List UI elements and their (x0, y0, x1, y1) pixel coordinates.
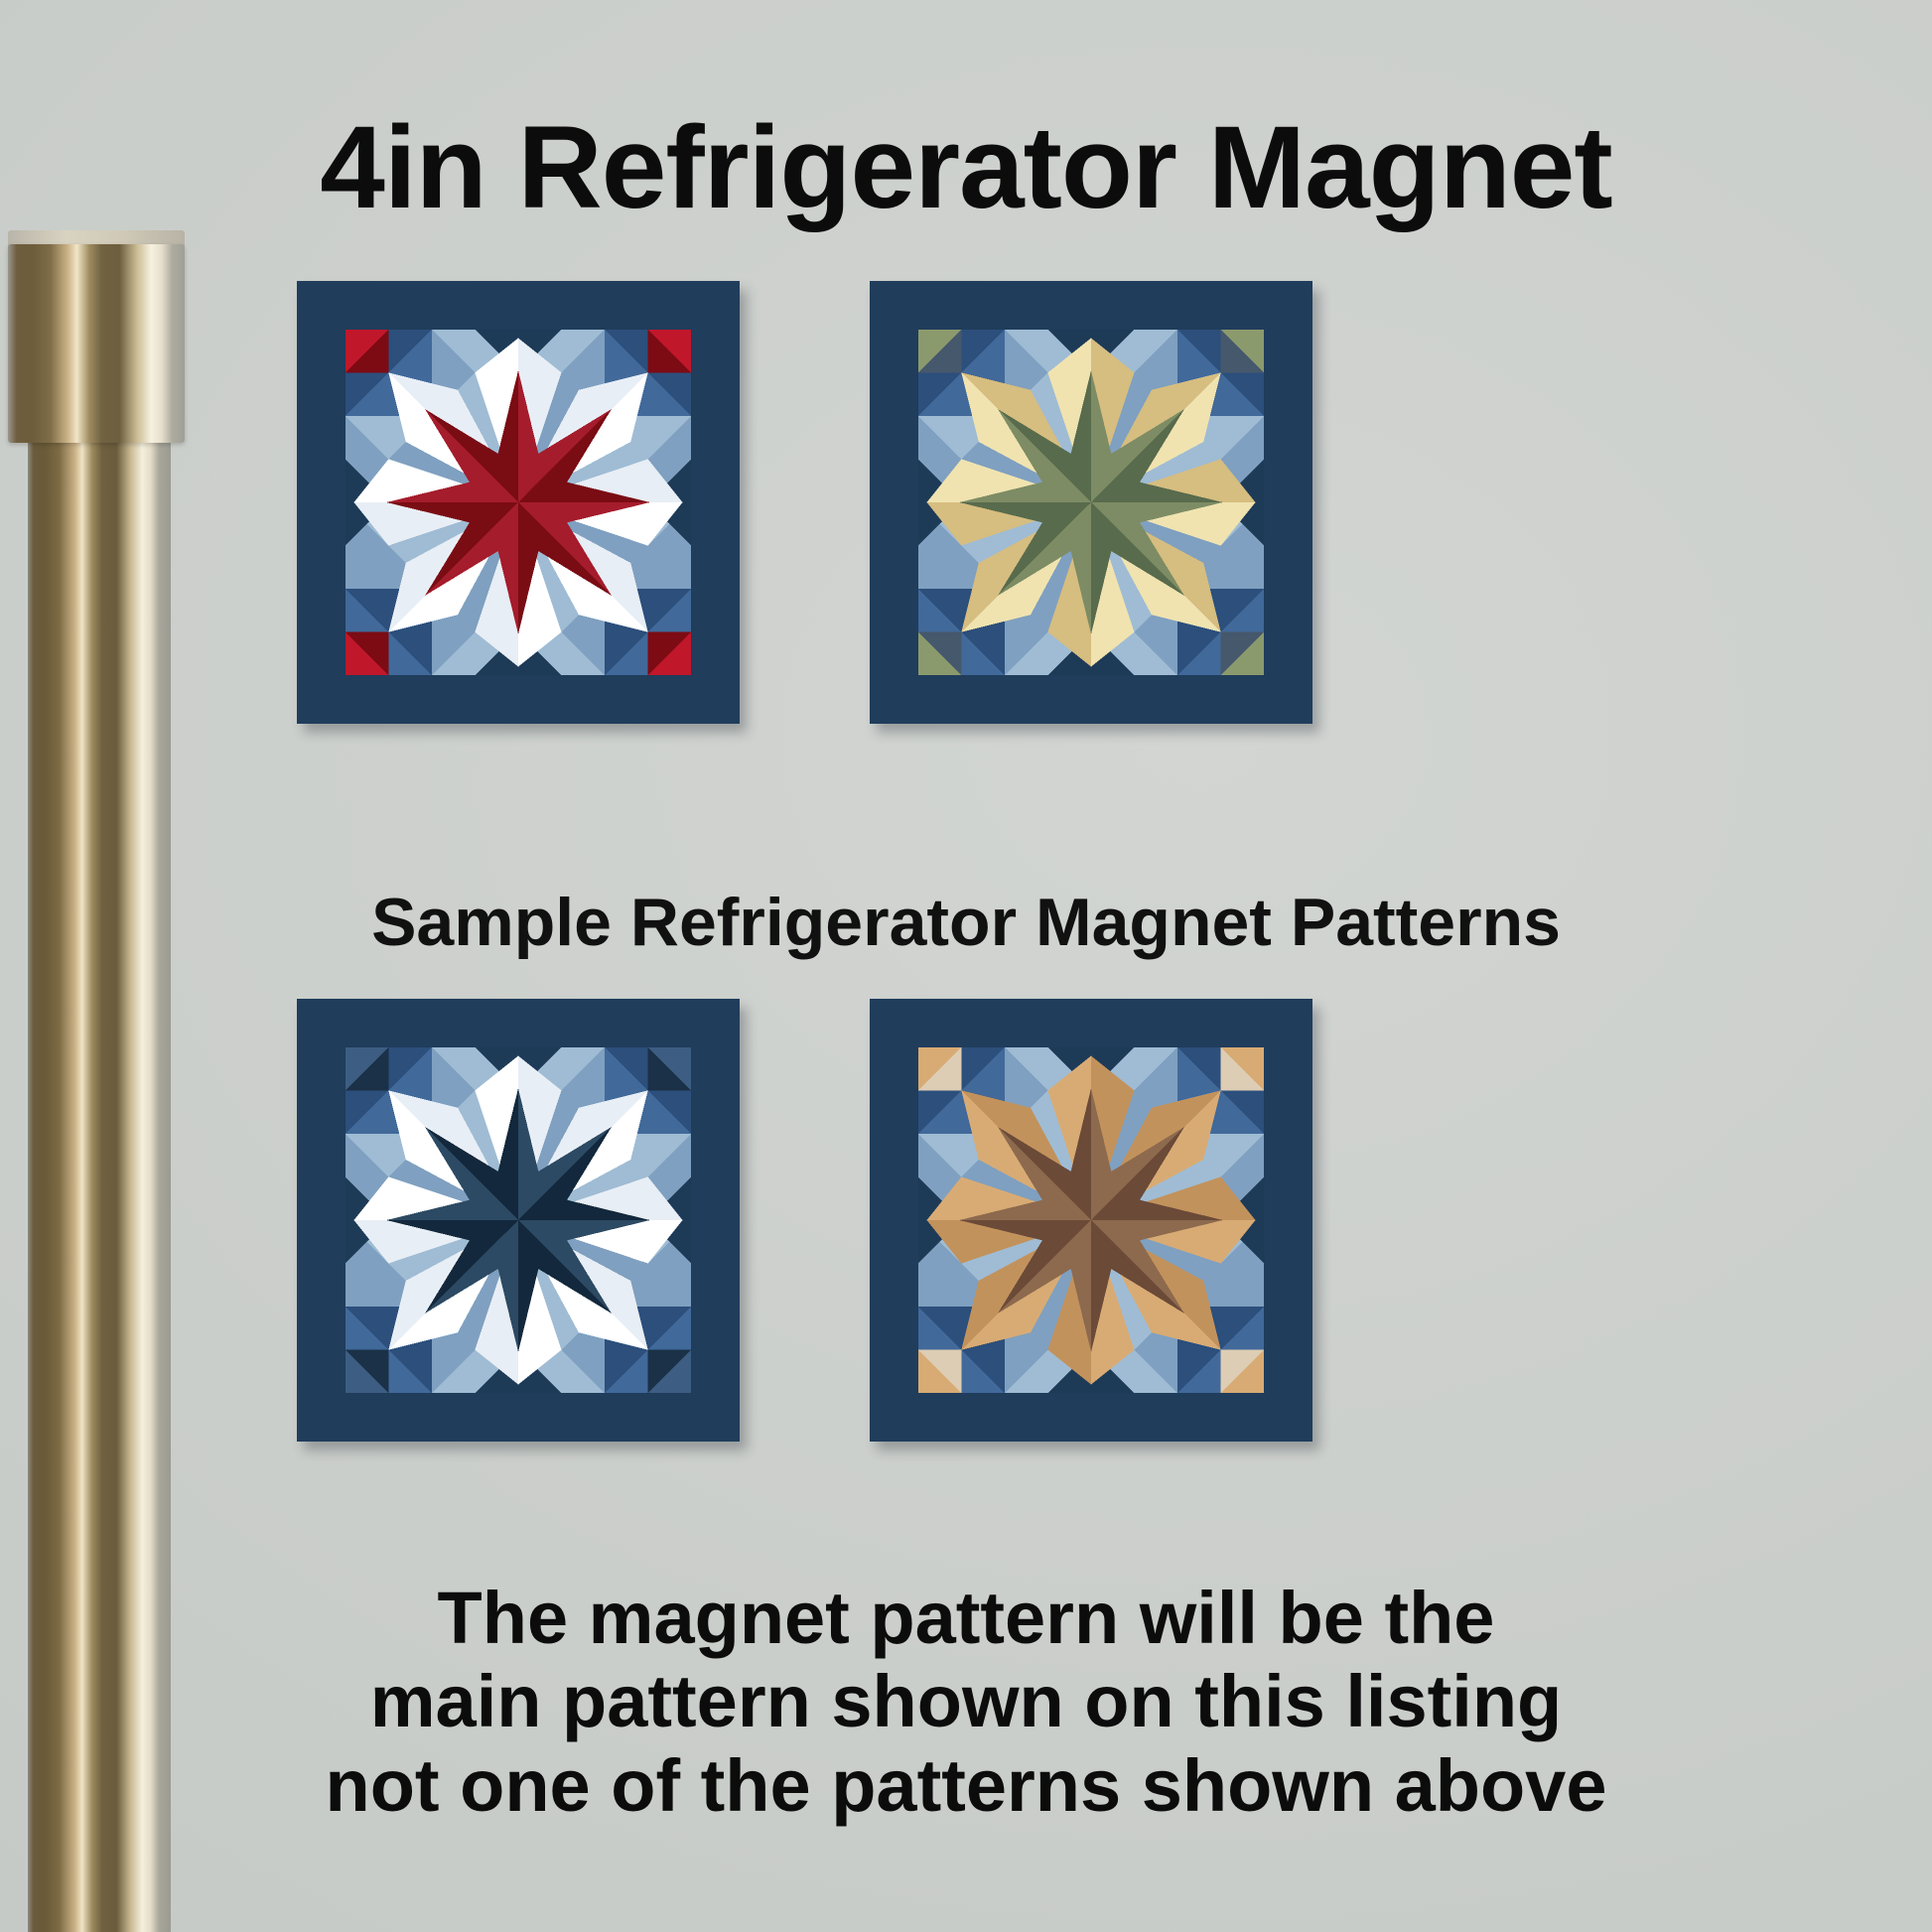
listing-image: 4in Refrigerator Magnet Sample Refrigera… (0, 0, 1932, 1932)
handle-cap-top (8, 230, 185, 252)
handle-cap (8, 244, 185, 443)
quilt-bottom-right (870, 999, 1312, 1442)
sample-patterns-caption: Sample Refrigerator Magnet Patterns (0, 888, 1932, 958)
footer-line-2: main pattern shown on this listing (0, 1660, 1932, 1743)
quilt-bottom-left (297, 999, 740, 1442)
footer-note: The magnet pattern will be the main patt… (0, 1577, 1932, 1828)
quilt-top-left (297, 281, 740, 724)
footer-line-1: The magnet pattern will be the (0, 1577, 1932, 1660)
quilt-top-right (870, 281, 1312, 724)
page-title: 4in Refrigerator Magnet (0, 107, 1932, 230)
footer-line-3: not one of the patterns shown above (0, 1744, 1932, 1828)
